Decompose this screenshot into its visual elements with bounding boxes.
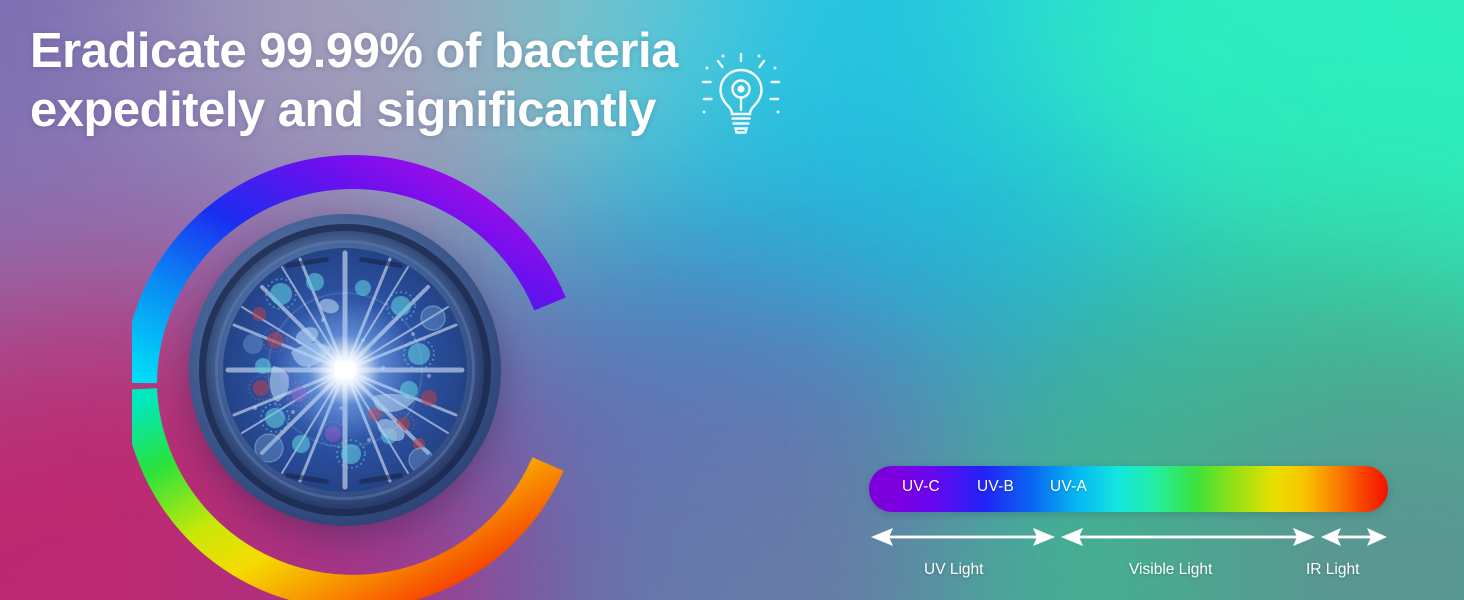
light-spectrum-widget: UV-C UV-B UV-A UV Light Visible Light IR… [869,466,1388,594]
range-label-ir-light: IR Light [1306,561,1359,579]
lightbulb-icon [700,52,782,140]
band-label-uvb: UV-B [977,478,1014,496]
spectrum-gradient-bar [869,466,1388,512]
range-label-visible-light: Visible Light [1129,561,1212,579]
headline-line-2: expeditely and significantly [30,81,750,140]
headline-line-1: Eradicate 99.99% of bacteria [30,24,678,78]
uv-sterilizer-graphic [132,146,574,600]
range-label-uv-light: UV Light [924,561,983,579]
promo-banner: Eradicate 99.99% of bacteria expeditely … [0,0,1464,600]
band-label-uva: UV-A [1050,478,1087,496]
band-label-uvc: UV-C [902,478,940,496]
headline: Eradicate 99.99% of bacteria expeditely … [30,22,750,140]
spectrum-range-arrows [869,524,1388,550]
spectrum-ring-arc [132,146,574,600]
